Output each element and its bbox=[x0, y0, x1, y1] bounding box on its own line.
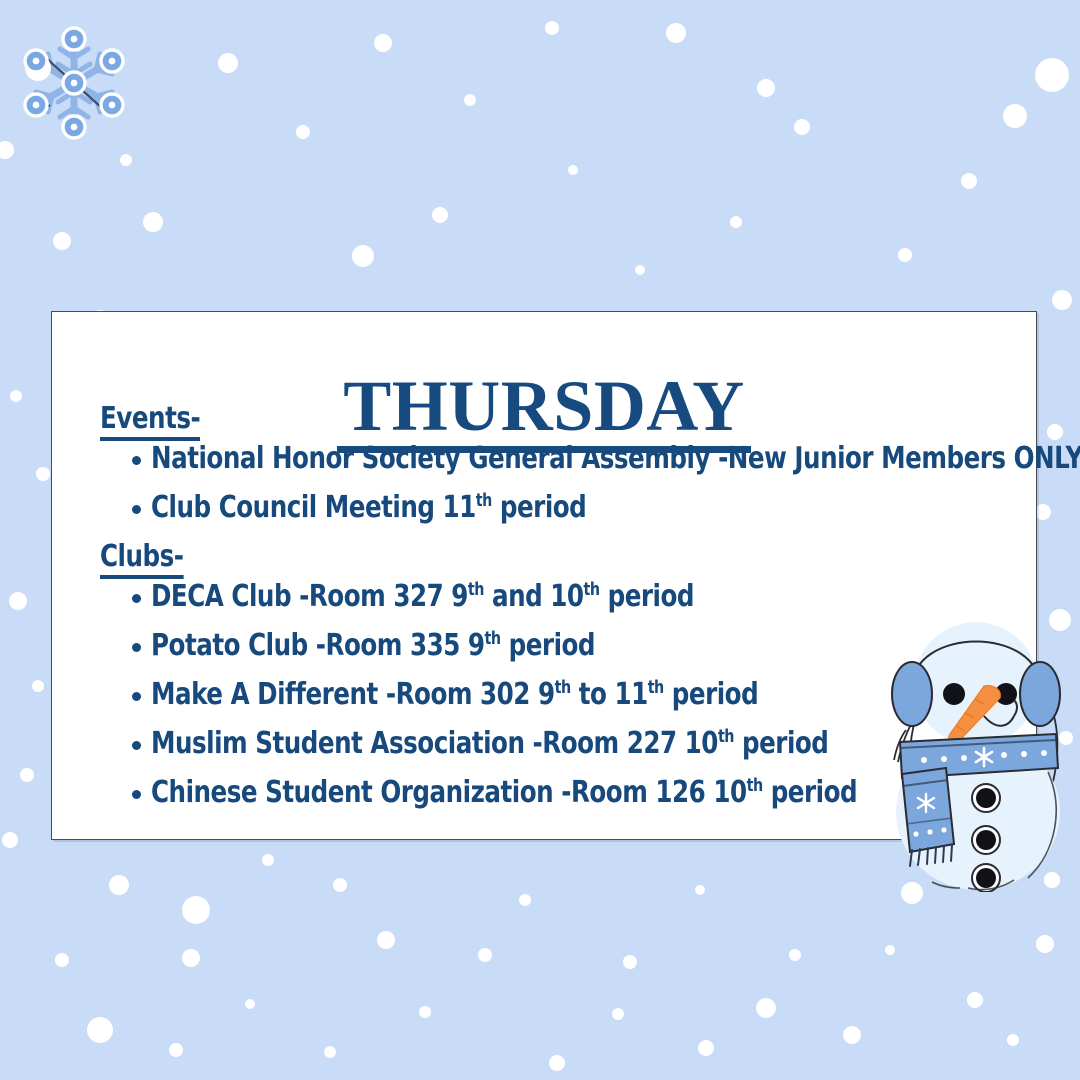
snow-dot bbox=[1052, 290, 1072, 310]
snow-dot bbox=[1035, 58, 1069, 92]
snow-dot bbox=[1036, 935, 1054, 953]
list-item: Club Council Meeting 11th period bbox=[49, 493, 1049, 523]
snow-dot bbox=[87, 1017, 113, 1043]
snow-dot bbox=[789, 949, 801, 961]
snow-dot bbox=[109, 875, 129, 895]
snow-dot bbox=[1007, 1034, 1019, 1046]
snowflake-icon bbox=[16, 22, 132, 144]
bullet-dot-icon bbox=[132, 790, 141, 799]
snow-dot bbox=[1047, 424, 1063, 440]
bullet-dot-icon bbox=[132, 643, 141, 652]
snow-dot bbox=[53, 232, 71, 250]
snow-dot bbox=[967, 992, 983, 1008]
winter-announcement-poster: THURSDAY Events- National Honor Society … bbox=[0, 0, 1080, 1080]
ordinal-suffix: th bbox=[476, 491, 492, 511]
snow-dot bbox=[549, 1055, 565, 1071]
ordinal-suffix: th bbox=[485, 629, 501, 649]
snow-dot bbox=[296, 125, 310, 139]
snow-dot bbox=[698, 1040, 714, 1056]
snow-dot bbox=[794, 119, 810, 135]
ordinal-suffix: th bbox=[468, 580, 484, 600]
snow-dot bbox=[623, 955, 637, 969]
snow-dot bbox=[730, 216, 742, 228]
section-heading-clubs-label: Clubs- bbox=[100, 542, 184, 579]
list-item: National Honor Society General Assembly … bbox=[49, 444, 1049, 474]
snowman-icon bbox=[872, 612, 1080, 892]
snow-dot bbox=[245, 999, 255, 1009]
section-heading-events: Events- bbox=[49, 404, 1049, 441]
snow-dot bbox=[666, 23, 686, 43]
snow-dot bbox=[324, 1046, 336, 1058]
section-heading-clubs: Clubs- bbox=[49, 542, 1049, 579]
snow-dot bbox=[374, 34, 392, 52]
snow-dot bbox=[961, 173, 977, 189]
list-item: DECA Club -Room 327 9th and 10th period bbox=[49, 582, 1049, 612]
events-list: National Honor Society General Assembly … bbox=[49, 444, 1049, 523]
snow-dot bbox=[2, 832, 18, 848]
snow-dot bbox=[262, 854, 274, 866]
snow-dot bbox=[10, 390, 22, 402]
snow-dot bbox=[695, 885, 705, 895]
bullet-dot-icon bbox=[132, 594, 141, 603]
section-heading-events-label: Events- bbox=[100, 404, 200, 441]
snow-dot bbox=[120, 154, 132, 166]
bullet-dot-icon bbox=[132, 692, 141, 701]
snow-dot bbox=[36, 467, 50, 481]
snow-dot bbox=[885, 945, 895, 955]
list-item-text: Make A Different -Room 302 9th to 11th p… bbox=[151, 680, 758, 710]
snow-dot bbox=[898, 248, 912, 262]
bullet-dot-icon bbox=[132, 456, 141, 465]
snow-dot bbox=[568, 165, 578, 175]
snow-dot bbox=[377, 931, 395, 949]
ordinal-suffix: th bbox=[747, 776, 763, 796]
ordinal-suffix: th bbox=[648, 678, 664, 698]
ordinal-suffix: th bbox=[718, 727, 734, 747]
list-item-text: Club Council Meeting 11th period bbox=[151, 493, 586, 523]
snow-dot bbox=[757, 79, 775, 97]
snow-dot bbox=[0, 141, 14, 159]
snow-dot bbox=[635, 265, 645, 275]
ordinal-suffix: th bbox=[555, 678, 571, 698]
snow-dot bbox=[143, 212, 163, 232]
snow-dot bbox=[478, 948, 492, 962]
snow-dot bbox=[545, 21, 559, 35]
snow-dot bbox=[519, 894, 531, 906]
list-item-text: Potato Club -Room 335 9th period bbox=[151, 631, 595, 661]
ordinal-suffix: th bbox=[584, 580, 600, 600]
list-item-text: DECA Club -Room 327 9th and 10th period bbox=[151, 582, 694, 612]
snow-dot bbox=[55, 953, 69, 967]
bullet-dot-icon bbox=[132, 741, 141, 750]
snow-dot bbox=[352, 245, 374, 267]
snow-dot bbox=[218, 53, 238, 73]
snow-dot bbox=[756, 998, 776, 1018]
snow-dot bbox=[843, 1026, 861, 1044]
snow-dot bbox=[1003, 104, 1027, 128]
snow-dot bbox=[20, 768, 34, 782]
snow-dot bbox=[9, 592, 27, 610]
snow-dot bbox=[419, 1006, 431, 1018]
list-item-text: Muslim Student Association -Room 227 10t… bbox=[151, 729, 828, 759]
snow-dot bbox=[32, 680, 44, 692]
snow-dot bbox=[182, 949, 200, 967]
list-item-text: Chinese Student Organization -Room 126 1… bbox=[151, 778, 857, 808]
snow-dot bbox=[182, 896, 210, 924]
list-item-text: National Honor Society General Assembly … bbox=[151, 444, 1080, 474]
snow-dot bbox=[333, 878, 347, 892]
bullet-dot-icon bbox=[132, 505, 141, 514]
snow-dot bbox=[169, 1043, 183, 1057]
snow-dot bbox=[464, 94, 476, 106]
snow-dot bbox=[432, 207, 448, 223]
snow-dot bbox=[612, 1008, 624, 1020]
